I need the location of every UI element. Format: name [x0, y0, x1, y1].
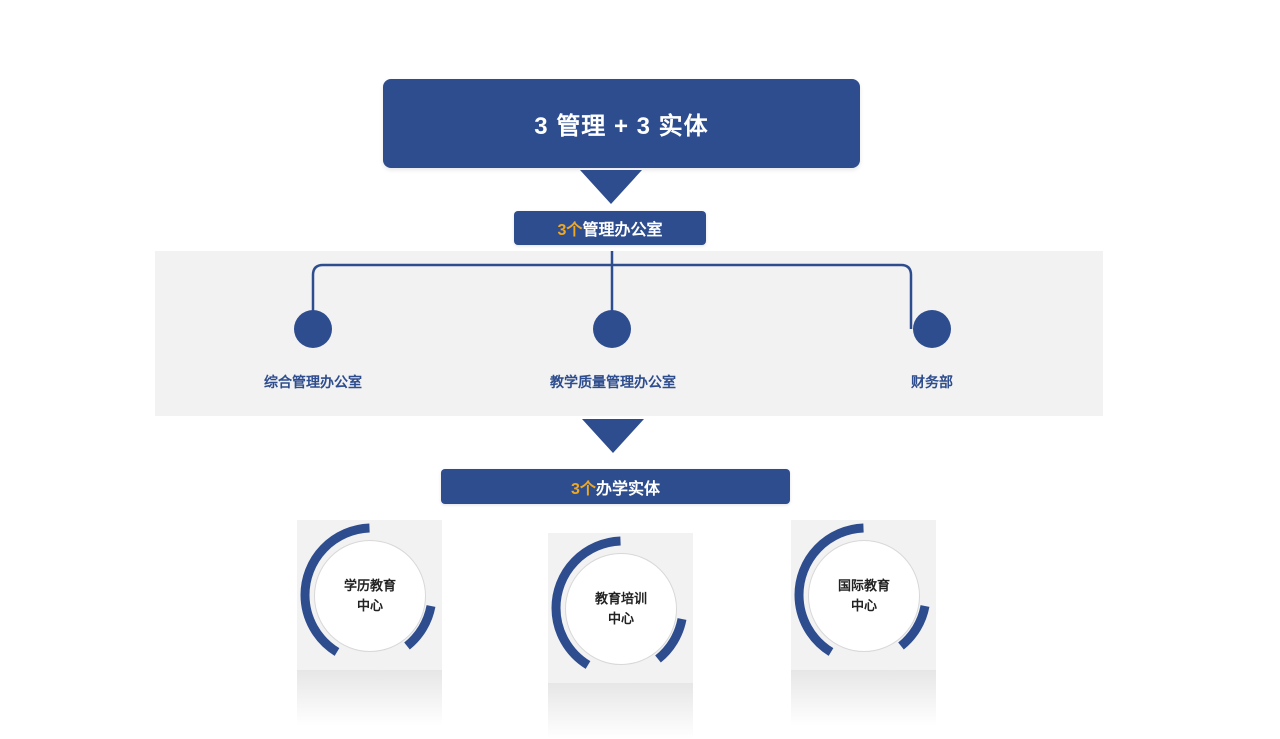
management-office-label-1: 综合管理办公室: [264, 372, 362, 392]
entity-reflection-1: [297, 670, 442, 726]
entity-label-2-line2: 中心: [608, 609, 634, 629]
entity-label-1-line2: 中心: [357, 596, 383, 616]
page-title: 3 管理 + 3 实体: [534, 106, 708, 141]
entity-card-2[interactable]: 教育培训 中心: [548, 533, 693, 683]
entity-badge: 3个 办学实体: [441, 469, 790, 504]
entity-label-3-line2: 中心: [851, 596, 877, 616]
management-node-dot-3: [913, 310, 951, 348]
entity-circle-3: 国际教育 中心: [808, 540, 920, 652]
entity-badge-number: 3个: [571, 475, 596, 499]
management-badge-number: 3个: [558, 216, 583, 240]
entity-reflection-2: [548, 683, 693, 739]
entity-card-1[interactable]: 学历教育 中心: [297, 520, 442, 670]
entity-card-3[interactable]: 国际教育 中心: [791, 520, 936, 670]
entity-label-1-line1: 学历教育: [344, 576, 396, 596]
entity-label-2-line1: 教育培训: [595, 589, 647, 609]
management-badge-label: 管理办公室: [582, 216, 662, 240]
entity-circle-2: 教育培训 中心: [565, 553, 677, 665]
diagram-title-box: 3 管理 + 3 实体: [383, 79, 860, 168]
entity-label-3-line1: 国际教育: [838, 576, 890, 596]
entity-badge-label: 办学实体: [596, 475, 660, 499]
management-badge: 3个 管理办公室: [514, 211, 706, 245]
management-node-dot-2: [593, 310, 631, 348]
management-office-label-3: 财务部: [911, 372, 953, 392]
management-office-label-2: 教学质量管理办公室: [550, 372, 676, 392]
entity-circle-1: 学历教育 中心: [314, 540, 426, 652]
management-node-dot-1: [294, 310, 332, 348]
entity-reflection-3: [791, 670, 936, 726]
